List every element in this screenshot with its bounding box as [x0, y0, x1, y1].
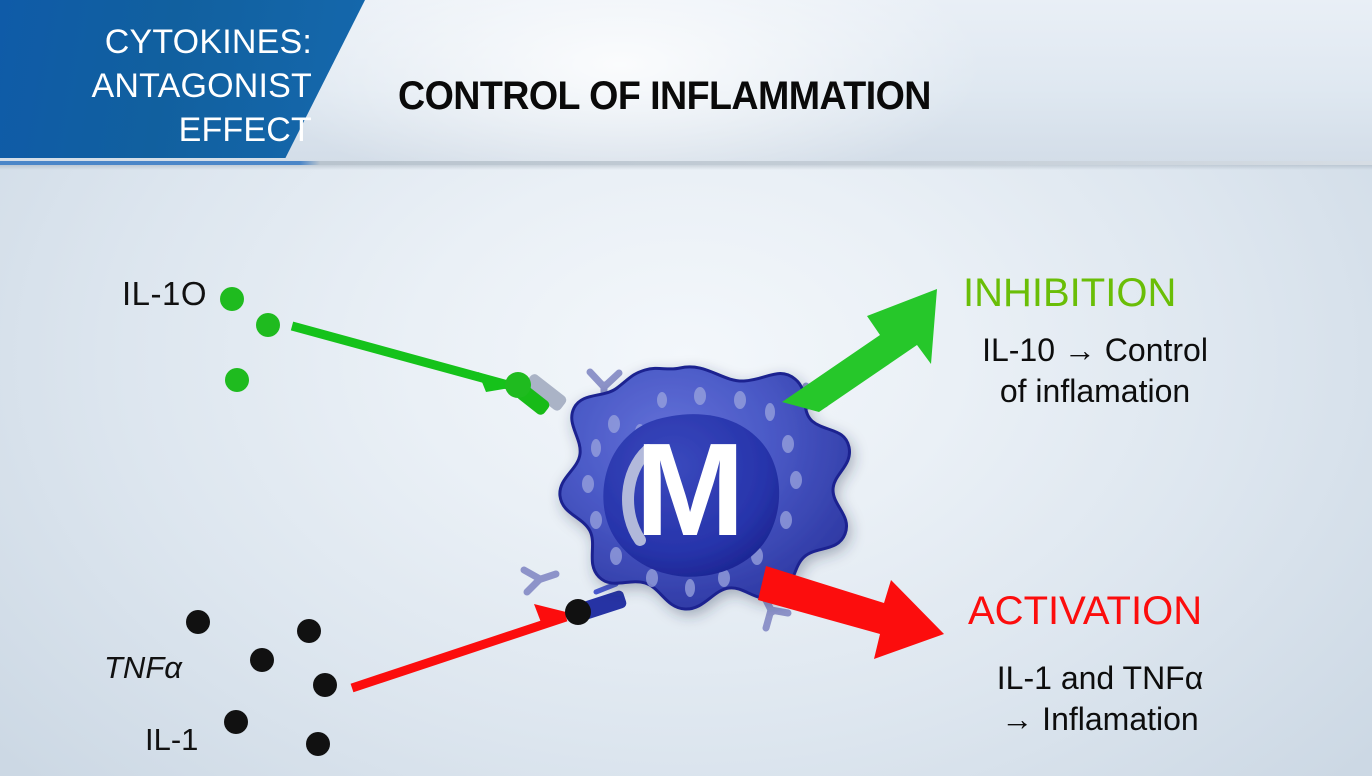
svg-text:M: M — [635, 416, 745, 563]
heading-inhibition: INHIBITION — [963, 271, 1176, 316]
il10-incoming-arrow — [292, 326, 516, 392]
heading-activation: ACTIVATION — [968, 589, 1202, 634]
tnf-incoming-arrow — [352, 604, 574, 688]
label-il10: IL-1O — [122, 275, 207, 313]
il10-particle — [225, 368, 249, 392]
inflammatory-particle — [250, 648, 274, 672]
il10-particle — [505, 372, 531, 398]
inflammatory-particle — [306, 732, 330, 756]
text-activation: IL-1 and TNFα → Inflamation — [930, 658, 1270, 740]
il10-particle — [220, 287, 244, 311]
macrophage-letter: M — [635, 416, 745, 563]
label-tnfa: TNFα — [104, 650, 182, 686]
label-il1: IL-1 — [145, 722, 198, 758]
inflammatory-particle — [565, 599, 591, 625]
page-title: CONTROL OF INFLAMMATION — [398, 74, 931, 119]
inflammatory-particle — [297, 619, 321, 643]
banner-title: CYTOKINES: ANTAGONIST EFFECT — [0, 20, 312, 152]
text-inhibition: IL-10 → Control of inflamation — [930, 330, 1260, 412]
inhibition-arrow — [782, 289, 937, 412]
il10-particle — [256, 313, 280, 337]
inflammatory-particle — [224, 710, 248, 734]
inflammatory-particle — [313, 673, 337, 697]
slide-canvas: M CYTOKINES: ANTAGONIST EFFECT CONTROL O — [0, 0, 1372, 776]
inflammatory-particle — [186, 610, 210, 634]
header-divider-shadow — [0, 165, 1372, 170]
